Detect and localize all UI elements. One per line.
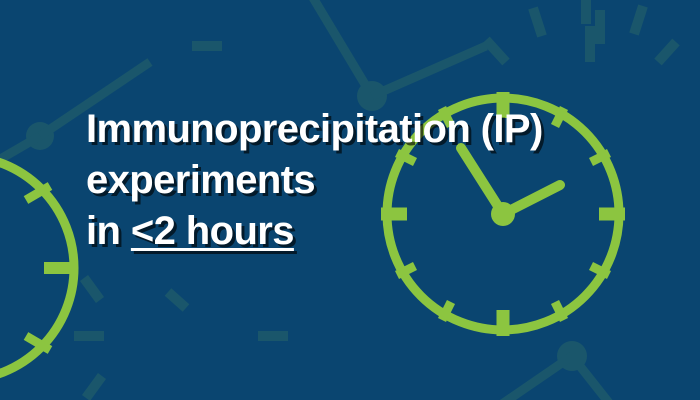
text-layer: Immunoprecipitation (IP) experiments in … bbox=[0, 0, 700, 400]
headline-emphasis: <2 hours bbox=[131, 209, 294, 253]
headline-line-1: Immunoprecipitation (IP) bbox=[86, 104, 646, 155]
page-title: Immunoprecipitation (IP) experiments in … bbox=[86, 104, 646, 257]
headline-line-3-prefix: in bbox=[86, 209, 131, 253]
promo-banner: Immunoprecipitation (IP) experiments in … bbox=[0, 0, 700, 400]
headline-line-2: experiments bbox=[86, 155, 646, 206]
headline-line-3: in <2 hours bbox=[86, 206, 646, 257]
